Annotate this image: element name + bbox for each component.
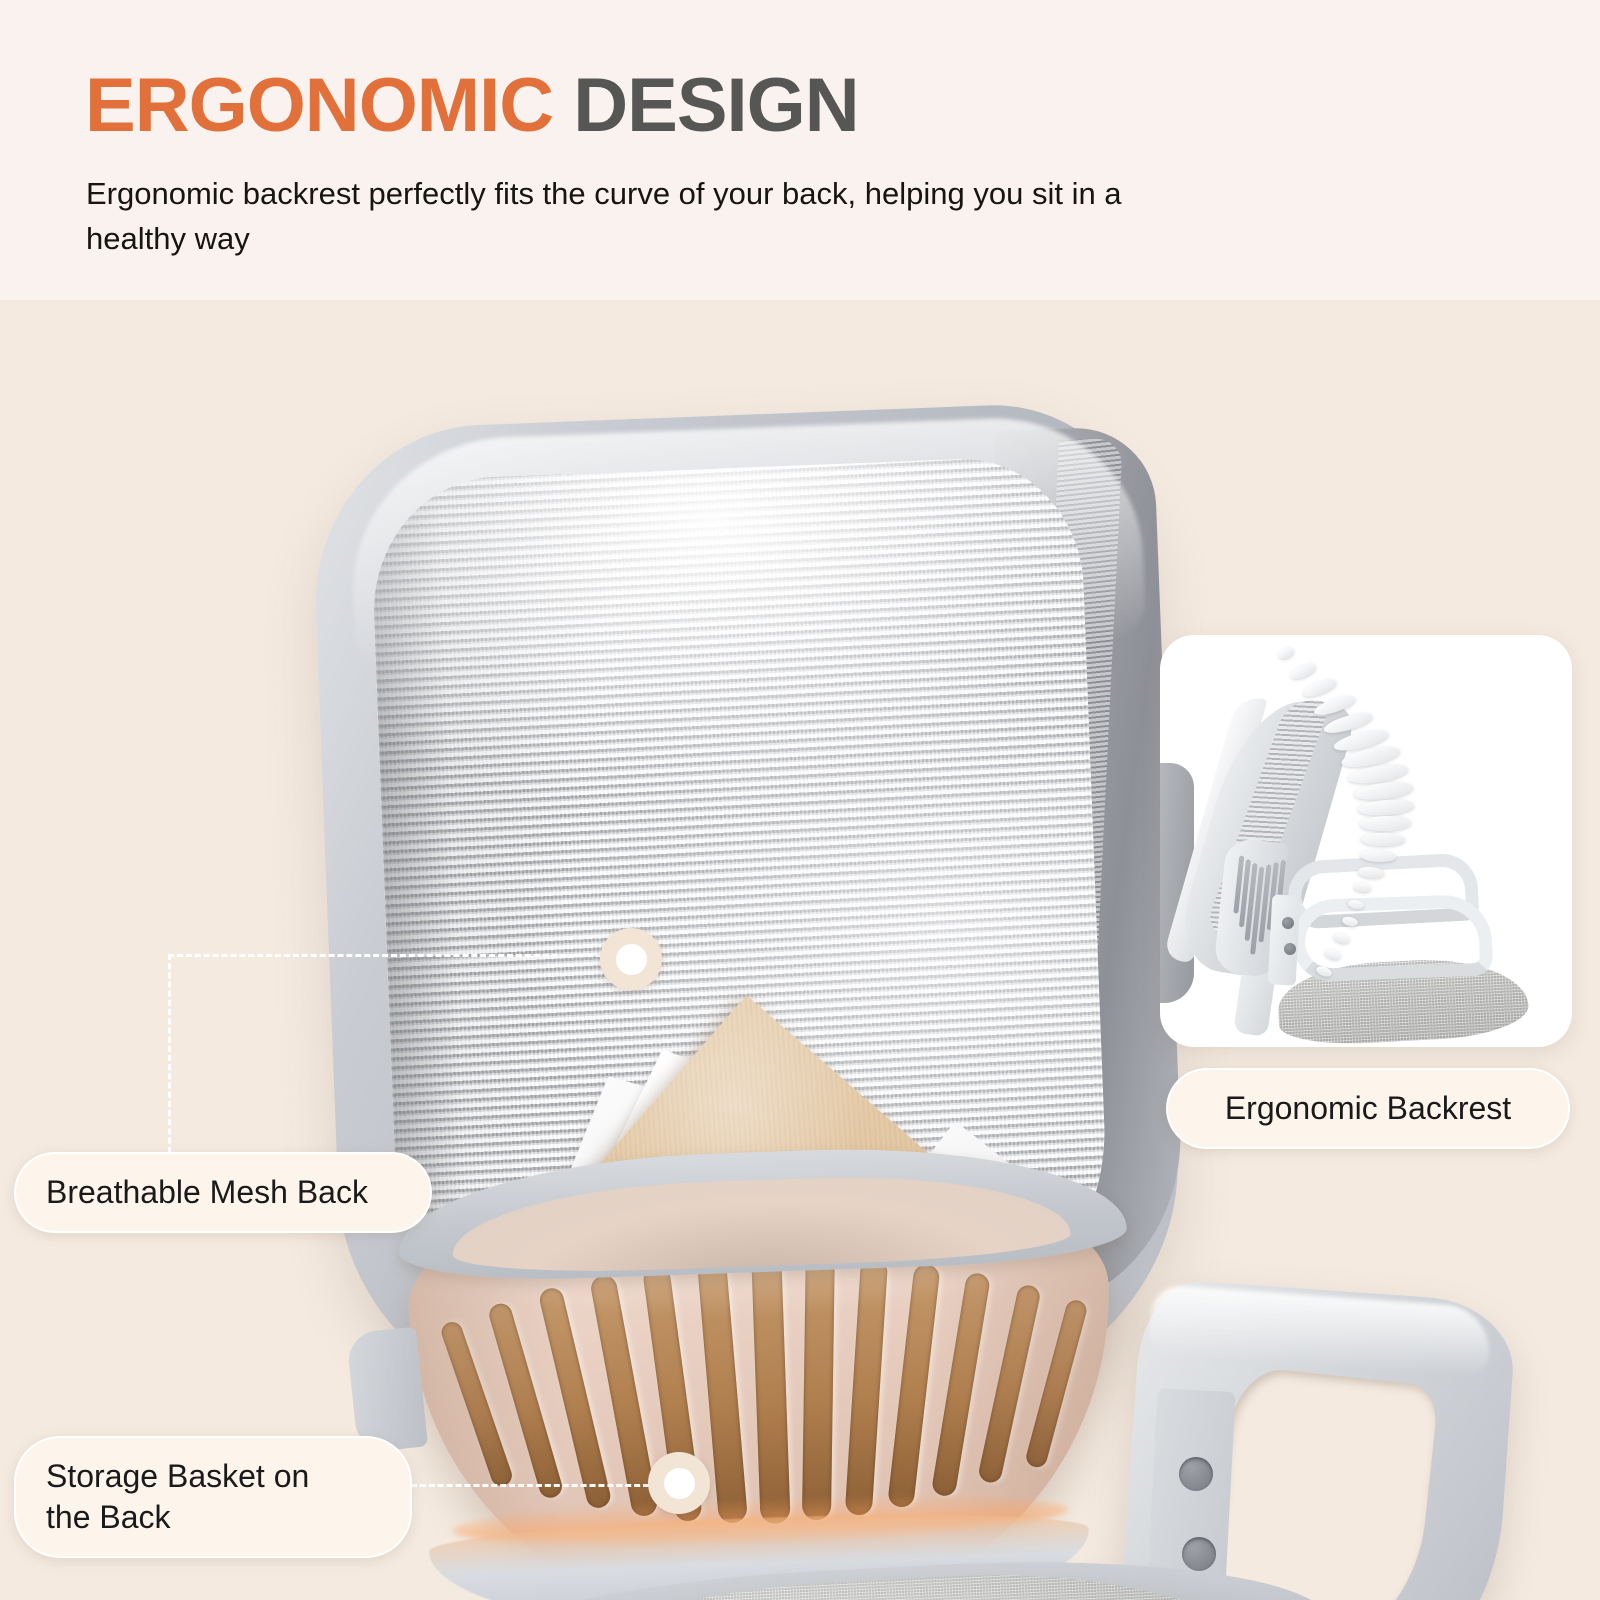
inset-armrest-screw-upper	[1282, 917, 1294, 929]
inset-armrest-screw-lower	[1284, 943, 1296, 955]
basket-vent-slot	[1024, 1298, 1089, 1470]
page-title-highlight: ERGONOMIC	[85, 63, 553, 148]
inset-armrest-plate	[1268, 894, 1301, 985]
vertebra-icon	[1361, 833, 1405, 847]
page-title-rest: DESIGN	[573, 63, 858, 148]
callout-label-mesh: Breathable Mesh Back	[14, 1152, 432, 1233]
basket-vent-slot	[751, 1255, 790, 1524]
basket-vent-slot	[844, 1258, 887, 1517]
page-subtitle: Ergonomic backrest perfectly fits the cu…	[86, 172, 1136, 262]
product-image-stage: YO Paper & plates To form fold,	[0, 300, 1600, 1600]
callout-dot-basket	[648, 1452, 710, 1514]
callout-dot-mesh	[600, 928, 662, 990]
armrest-screw-hole-upper	[1179, 1457, 1213, 1491]
header-band: ERGONOMIC DESIGN Ergonomic backrest perf…	[0, 0, 1600, 300]
leader-line-basket-horizontal	[402, 1484, 658, 1487]
vertebra-icon	[1277, 646, 1295, 661]
vertebra-icon	[1289, 661, 1317, 681]
vertebra-icon	[1358, 798, 1415, 817]
leader-line-mesh-horizontal	[168, 954, 620, 957]
leader-line-mesh-vertical	[168, 954, 171, 1162]
callout-label-basket: Storage Basket on the Back	[14, 1436, 412, 1558]
chair-left-armrest-stub	[346, 1327, 428, 1454]
inset-panel-ergonomic-backrest	[1160, 635, 1572, 1047]
basket-vent-slot	[802, 1255, 834, 1521]
vertebra-icon	[1360, 816, 1411, 832]
basket-vent-slot	[887, 1263, 940, 1508]
vertebra-icon	[1301, 677, 1338, 701]
callout-label-backrest: Ergonomic Backrest	[1166, 1068, 1570, 1149]
page-title: ERGONOMIC DESIGN	[85, 68, 859, 144]
